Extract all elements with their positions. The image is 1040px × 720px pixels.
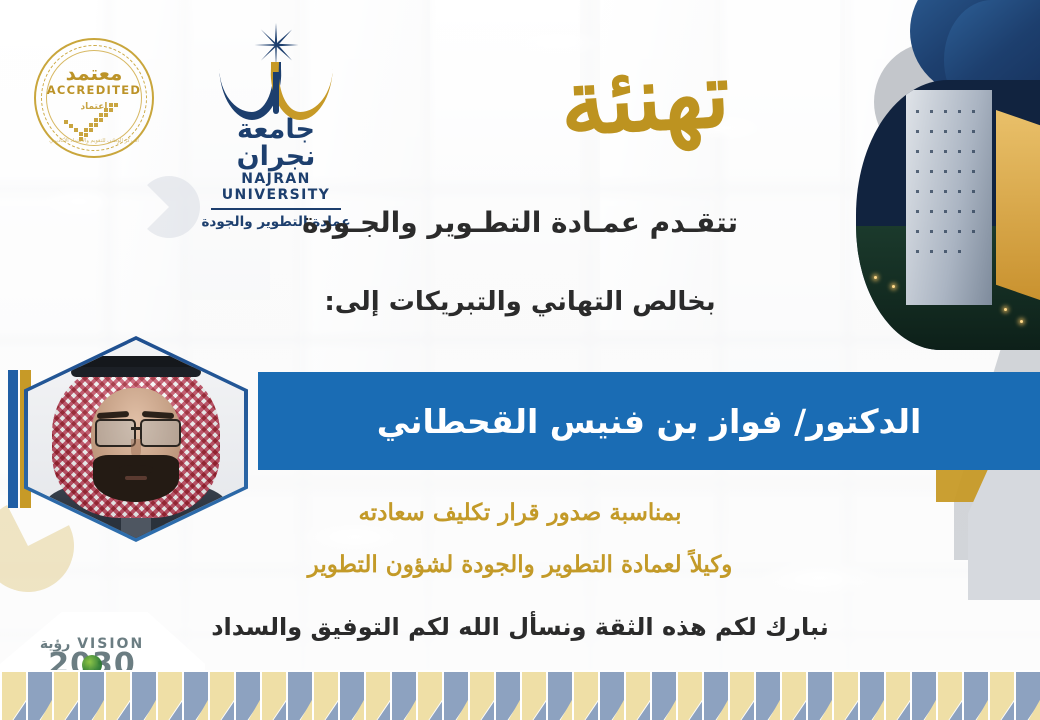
university-name-english: NAJRAN UNIVERSITY [196, 171, 356, 203]
congratulation-poster: معتمد ACCREDITED اعتماد المركز الوطني لل… [0, 0, 1040, 720]
honoree-name: الدكتور/ فواز بن فنيس القحطاني [377, 402, 922, 441]
pattern-cell [546, 672, 572, 720]
pattern-cell [806, 672, 832, 720]
pattern-cell [234, 672, 260, 720]
accreditation-seal: معتمد ACCREDITED اعتماد المركز الوطني لل… [34, 38, 154, 158]
pattern-cell [468, 672, 494, 720]
seal-arabic-label: معتمد [34, 61, 154, 85]
pattern-cell [650, 672, 676, 720]
pattern-cell [624, 672, 650, 720]
university-name-arabic: جامعة نجران [196, 116, 356, 170]
pattern-cell [182, 672, 208, 720]
pattern-cell [286, 672, 312, 720]
greeting-line-2: بخالص التهاني والتبريكات إلى: [160, 287, 880, 317]
pattern-cell [104, 672, 130, 720]
pattern-cell [962, 672, 988, 720]
page-title-calligraphy: تهنئة [517, 28, 773, 171]
top-right-decoration [860, 0, 1040, 370]
pattern-cell [728, 672, 754, 720]
pattern-cell [832, 672, 858, 720]
pattern-cell [260, 672, 286, 720]
pattern-cell [754, 672, 780, 720]
pattern-cell [390, 672, 416, 720]
pattern-cell [936, 672, 962, 720]
pattern-cell [416, 672, 442, 720]
seal-english-label: ACCREDITED [34, 83, 154, 97]
pattern-cell [26, 672, 52, 720]
seal-authority-text: المركز الوطني للتقويم والاعتماد الأكاديم… [34, 138, 154, 146]
pattern-cell [442, 672, 468, 720]
pattern-cell [338, 672, 364, 720]
pattern-cell [858, 672, 884, 720]
pattern-cell [52, 672, 78, 720]
pattern-cell [78, 672, 104, 720]
occasion-line-1: بمناسبة صدور قرار تكليف سعادته [170, 499, 870, 526]
honoree-name-banner: الدكتور/ فواز بن فنيس القحطاني [258, 372, 1040, 470]
greeting-line-1: تتقـدم عمـادة التطـوير والجـودة [160, 206, 880, 239]
pattern-cell [884, 672, 910, 720]
portrait-accent-bar-blue [8, 370, 18, 508]
pattern-cell [572, 672, 598, 720]
pattern-cell [208, 672, 234, 720]
open-book-icon [220, 62, 332, 114]
pattern-cell [1014, 672, 1040, 720]
pattern-cell [520, 672, 546, 720]
pattern-cell [702, 672, 728, 720]
pattern-cell [910, 672, 936, 720]
pattern-cell [312, 672, 338, 720]
pattern-cell [130, 672, 156, 720]
occasion-line-2: وكيلاً لعمادة التطوير والجودة لشؤون التط… [170, 551, 870, 578]
campus-night-photo [856, 80, 1040, 350]
bottom-decorative-pattern [0, 672, 1040, 720]
seal-checkmark-icon [60, 102, 126, 142]
najran-university-logo: جامعة نجران NAJRAN UNIVERSITY عمادة التط… [196, 24, 356, 174]
pattern-cell [156, 672, 182, 720]
eight-point-star-icon [255, 24, 297, 66]
closing-line: نبارك لكم هذه الثقة ونسأل الله لكم التوف… [150, 613, 890, 641]
pattern-cell [494, 672, 520, 720]
pattern-cell [988, 672, 1014, 720]
pattern-cell [598, 672, 624, 720]
pattern-cell [676, 672, 702, 720]
pattern-cell [364, 672, 390, 720]
pattern-cell [780, 672, 806, 720]
pattern-cell [0, 672, 26, 720]
